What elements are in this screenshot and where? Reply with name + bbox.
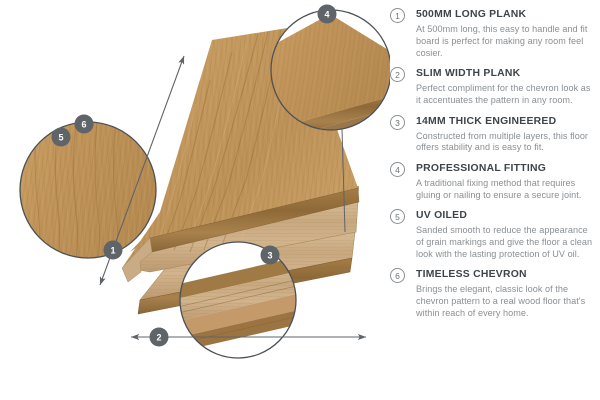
callout-1-badge-number: 1 bbox=[110, 246, 115, 256]
feature-item-5: 5 UV OILED Sanded smooth to reduce the a… bbox=[390, 209, 594, 261]
feature-item-6: 6 TIMELESS CHEVRON Brings the elegant, c… bbox=[390, 268, 594, 320]
callout-3-badge-number: 3 bbox=[267, 251, 272, 261]
feature-description-3: Constructed from multiple layers, this f… bbox=[416, 131, 594, 155]
feature-description-5: Sanded smooth to reduce the appearance o… bbox=[416, 225, 594, 261]
feature-title-1: 500MM LONG PLANK bbox=[416, 8, 594, 22]
infographic-root: 4 bbox=[0, 0, 600, 400]
feature-item-2: 2 SLIM WIDTH PLANK Perfect compliment fo… bbox=[390, 67, 594, 107]
callout-4-badge-number: 4 bbox=[324, 10, 329, 20]
feature-number-2: 2 bbox=[390, 67, 405, 82]
feature-item-3: 3 14MM THICK ENGINEERED Constructed from… bbox=[390, 115, 594, 155]
feature-title-4: PROFESSIONAL FITTING bbox=[416, 162, 594, 176]
feature-number-4: 4 bbox=[390, 162, 405, 177]
callout-2-badge-number: 2 bbox=[156, 333, 161, 343]
feature-number-5: 5 bbox=[390, 209, 405, 224]
feature-item-1: 1 500MM LONG PLANK At 500mm long, this e… bbox=[390, 8, 594, 60]
feature-item-4: 4 PROFESSIONAL FITTING A traditional fix… bbox=[390, 162, 594, 202]
callout-5-badge-number: 5 bbox=[58, 133, 63, 143]
feature-description-4: A traditional fixing method that require… bbox=[416, 178, 594, 202]
feature-list: 1 500MM LONG PLANK At 500mm long, this e… bbox=[386, 0, 600, 400]
feature-description-6: Brings the elegant, classic look of the … bbox=[416, 284, 594, 320]
feature-description-1: At 500mm long, this easy to handle and f… bbox=[416, 24, 594, 60]
feature-title-6: TIMELESS CHEVRON bbox=[416, 268, 594, 282]
feature-title-5: UV OILED bbox=[416, 209, 594, 223]
feature-number-3: 3 bbox=[390, 115, 405, 130]
feature-title-2: SLIM WIDTH PLANK bbox=[416, 67, 594, 81]
callout-6-badge-number: 6 bbox=[81, 120, 86, 130]
feature-number-6: 6 bbox=[390, 268, 405, 283]
feature-description-2: Perfect compliment for the chevron look … bbox=[416, 83, 594, 107]
plank-illustration: 4 bbox=[0, 0, 390, 400]
feature-number-1: 1 bbox=[390, 8, 405, 23]
feature-title-3: 14MM THICK ENGINEERED bbox=[416, 115, 594, 129]
illustration-svg: 4 bbox=[0, 0, 390, 400]
